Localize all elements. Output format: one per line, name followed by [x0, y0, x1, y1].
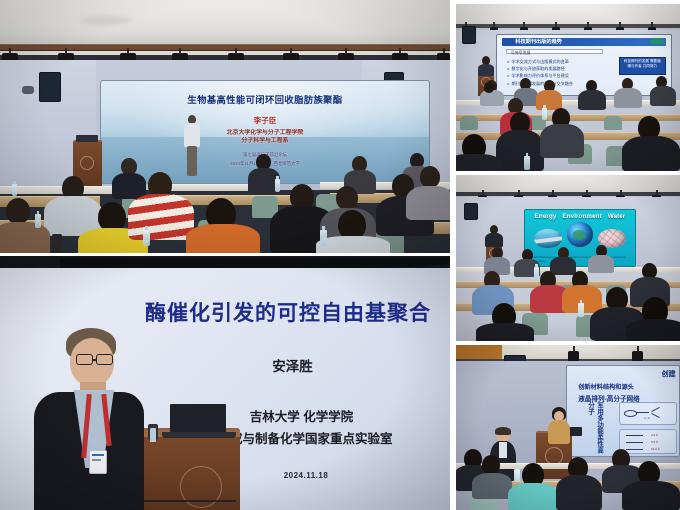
water-bottle [524, 156, 530, 170]
presenter [546, 407, 572, 445]
audience-body [472, 473, 512, 499]
glasses-right-lens [96, 354, 113, 365]
glasses-bridge [93, 359, 96, 361]
ceiling [456, 175, 680, 193]
audience-body [508, 483, 558, 510]
audience-head [482, 455, 500, 475]
chem-label: 19.0 Å [651, 447, 660, 451]
audience-body [456, 154, 502, 171]
slide-headings: Energy Environment Water [525, 213, 635, 220]
ceiling [0, 0, 450, 46]
presenter [26, 328, 156, 510]
slide-side-text: 军用多功能柔性高分子 [586, 402, 604, 456]
audience-body-striped [128, 194, 194, 240]
audience-body [550, 257, 576, 275]
audience-body [588, 255, 614, 273]
audience-body [480, 90, 504, 106]
badge-text-line [92, 459, 101, 461]
panel-journal-talk[interactable]: 科技期刊出版的趋势 可持续发展 学术交流方式与出版模式的变革 数字化与开放获取的… [456, 4, 680, 171]
badge-text-line [92, 454, 104, 456]
panel-energy-environment-water[interactable]: Energy Environment Water Global challeng… [456, 175, 680, 341]
slide-bullet: 学术交流方式与出版模式的变革 [507, 59, 568, 65]
slide-bullet: 学术影响力评价体系与平台建设 [507, 73, 568, 79]
slide-search-field[interactable]: 可持续发展 [506, 49, 603, 54]
chair [604, 116, 622, 130]
slide-header: 创建 [662, 369, 676, 379]
audience-head [420, 166, 440, 188]
chem-label: 4.2 Å [651, 433, 658, 437]
heading-environment: Environment [563, 213, 602, 220]
water-bottle [143, 230, 150, 246]
audience-body [622, 136, 680, 171]
water-bottle [275, 179, 280, 192]
slide-speaker: 安泽胜 [162, 355, 423, 375]
panel-liquid-crystal-talk[interactable]: 创建 创新材料结构和源头 液晶排列-高分子网络 军用多功能柔性高分子 n, m … [456, 345, 680, 510]
chair [460, 116, 478, 130]
presenter-body [548, 420, 570, 444]
audience-head [484, 82, 494, 93]
audience-body [316, 236, 390, 253]
hair [495, 427, 511, 435]
pa-speaker [464, 203, 478, 220]
chem-structure-top: n, m [619, 402, 677, 425]
presenter-body [485, 233, 503, 247]
slide-header: 科技期刊出版的趋势 [515, 40, 662, 45]
slide-line-1: 创新材料结构和源头 [578, 382, 677, 391]
audience-body [406, 186, 450, 220]
slide-callout: 科技期刊的发展 需要编辑与作者 共同努力 [619, 57, 666, 75]
slide-caption: Global challenges in energy generation, … [529, 256, 630, 264]
audience-body [536, 90, 562, 110]
slide-header-bar: 科技期刊出版的趋势 [502, 38, 666, 46]
projection-screen[interactable]: 创建 创新材料结构和源头 液晶排列-高分子网络 军用多功能柔性高分子 n, m … [566, 365, 680, 457]
audience-head [336, 186, 358, 210]
water-bottle [320, 230, 327, 246]
slide-speaker: 李子臣 [101, 115, 429, 126]
audience-body [0, 222, 50, 253]
lighting-truss [456, 192, 680, 196]
panel-speaker-closeup[interactable]: 酶催化引发的可控自由基聚合 安泽胜 吉林大学 化学学院 无机合成与制备化学国家重… [0, 256, 450, 510]
earth-globe-photo [567, 222, 593, 247]
slide-bullet: 期刊与学科发展的协同与交叉融合 [507, 81, 572, 87]
stage-presenter [183, 115, 201, 180]
thermos [52, 234, 62, 253]
logo-badge [650, 39, 664, 44]
pa-speaker-left [39, 72, 61, 102]
audience-body [614, 88, 642, 108]
audience-head [6, 198, 30, 224]
audience-body [186, 224, 260, 253]
water-bottle [578, 303, 584, 317]
water-bottle [534, 267, 539, 279]
heading-water: Water [608, 213, 626, 220]
lighting-truss [0, 44, 450, 51]
heading-energy: Energy [535, 213, 557, 220]
slide-title: 生物基高性能可闭环回收脂肪族聚酯 [101, 92, 429, 106]
chem-label: 9.5 Å [651, 440, 658, 444]
water-bottle [35, 214, 41, 228]
slide-search-label: 可持续发展 [511, 50, 531, 56]
glasses-left-lens [76, 354, 93, 365]
slide-bullet: 数字化与开放获取的发展路径 [507, 66, 564, 72]
audience-body [112, 173, 146, 199]
presenter-body [478, 64, 494, 76]
water-bottle [514, 469, 520, 482]
chem-structure-bottom: 4.2 Å 9.5 Å 19.0 Å [619, 429, 677, 454]
pa-speaker [462, 26, 476, 44]
audience-body [540, 124, 584, 158]
podium-laptop [170, 404, 226, 434]
ceiling [456, 4, 680, 26]
desk-row [0, 186, 118, 194]
audience-body [650, 86, 676, 106]
water-bottle [542, 108, 547, 120]
hydro-dam-photo [534, 229, 563, 248]
slide-callout-text: 科技期刊的发展 需要编辑与作者 共同努力 [623, 59, 663, 70]
audience-body [556, 475, 602, 510]
audience-body [622, 481, 680, 510]
audience-body [626, 319, 680, 341]
laptop-base [162, 432, 236, 438]
audience-body [476, 323, 534, 341]
projection-screen[interactable]: Energy Environment Water Global challeng… [524, 209, 636, 267]
audience-body [496, 130, 544, 171]
shirt [499, 442, 507, 458]
chem-label: n, m [644, 416, 650, 420]
panel-lecture-hall-wide[interactable]: 生物基高性能可闭环回收脂肪族聚酯 李子臣 北京大学化学与分子工程学院 分子科学与… [0, 0, 450, 253]
slide-affiliation-2: 分子科学与工程系 [101, 135, 429, 144]
wall-camera [22, 86, 34, 94]
photo-collage: 生物基高性能可闭环回收脂肪族聚酯 李子臣 北京大学化学与分子工程学院 分子科学与… [0, 0, 680, 510]
water-bottle [12, 184, 17, 196]
audience-body [578, 90, 606, 110]
podium-laptop [76, 135, 98, 142]
slide-title: 酶催化引发的可控自由基聚合 [135, 297, 441, 327]
